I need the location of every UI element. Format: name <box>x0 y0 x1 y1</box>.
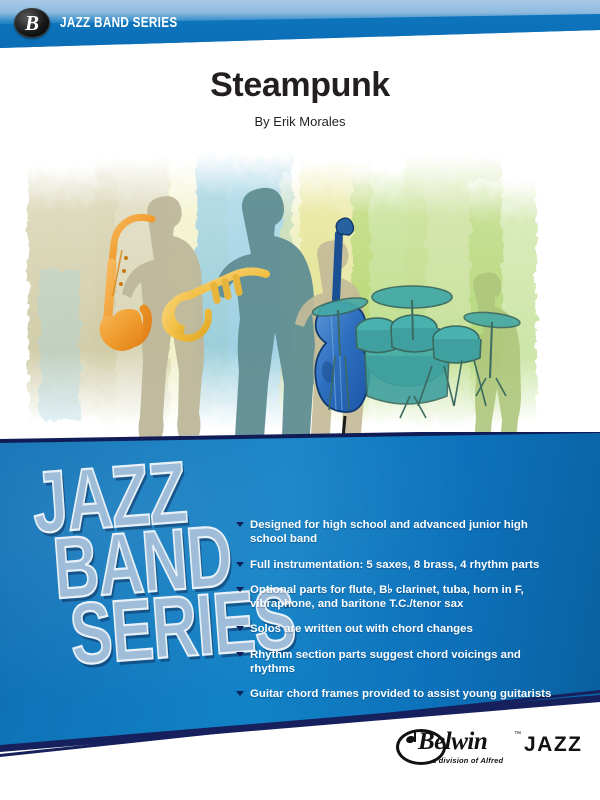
logo-letter: B <box>14 8 50 38</box>
list-item-text: Full instrumentation: 5 saxes, 8 brass, … <box>250 559 539 571</box>
list-item-text: Solos are written out with chord changes <box>250 623 473 635</box>
brand-tagline: a division of Alfred <box>432 756 503 765</box>
list-item: Designed for high school and advanced ju… <box>236 518 566 547</box>
publisher-logo: Belwin ™ JAZZ a division of Alfred <box>396 726 586 772</box>
cover-artwork <box>0 150 600 460</box>
page-title: Steampunk <box>0 66 600 105</box>
triangle-bullet-icon <box>236 562 244 567</box>
list-item-text: Guitar chord frames provided to assist y… <box>250 688 551 700</box>
list-item: Rhythm section parts suggest chord voici… <box>236 648 566 677</box>
triangle-bullet-icon <box>236 626 244 631</box>
triangle-bullet-icon <box>236 587 244 592</box>
list-item-text: Rhythm section parts suggest chord voici… <box>250 649 521 675</box>
promo-panel: JAZZ BAND SERIES Designed for high schoo… <box>0 432 600 762</box>
list-item: Guitar chord frames provided to assist y… <box>236 687 566 701</box>
belwin-b-logo-icon: B <box>14 8 50 38</box>
triangle-bullet-icon <box>236 652 244 657</box>
list-item-text: Optional parts for flute, B♭ clarinet, t… <box>250 584 524 610</box>
triangle-bullet-icon <box>236 691 244 696</box>
list-item: Optional parts for flute, B♭ clarinet, t… <box>236 583 566 612</box>
note-stem-icon <box>414 731 416 742</box>
list-item: Full instrumentation: 5 saxes, 8 brass, … <box>236 558 566 572</box>
feature-list: Designed for high school and advanced ju… <box>236 518 566 712</box>
series-label: JAZZ BAND SERIES <box>60 14 177 31</box>
list-item-text: Designed for high school and advanced ju… <box>250 519 528 545</box>
list-item: Solos are written out with chord changes <box>236 622 566 636</box>
sheet-music-cover: B JAZZ BAND SERIES Steampunk By Erik Mor… <box>0 0 600 800</box>
artwork-svg <box>0 150 600 460</box>
triangle-bullet-icon <box>236 522 244 527</box>
header-banner: B JAZZ BAND SERIES <box>0 0 600 56</box>
trademark-symbol: ™ <box>514 731 521 738</box>
composer-byline: By Erik Morales <box>0 114 600 129</box>
imprint-name: JAZZ <box>524 733 583 757</box>
brand-name: Belwin <box>418 728 487 756</box>
